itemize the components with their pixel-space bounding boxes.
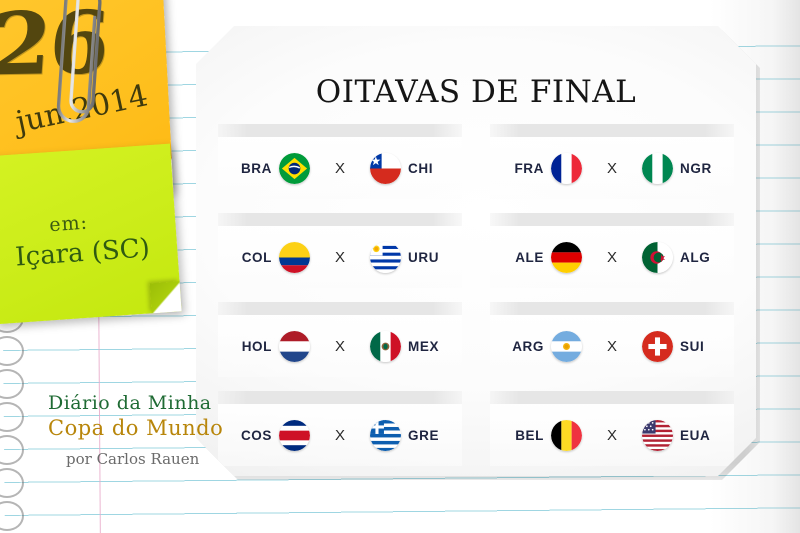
matches-column-right: FRA X NGR ALE [476, 124, 734, 480]
away-team-code: EUA [680, 428, 714, 443]
chile-flag-icon [370, 153, 401, 184]
belgium-flag-icon [551, 420, 582, 451]
nigeria-flag-icon [642, 153, 673, 184]
greece-flag-icon [370, 420, 401, 451]
switzerland-flag-icon [642, 331, 673, 362]
vs-separator: X [589, 249, 635, 266]
match-block[interactable]: HOL X MEX [218, 302, 462, 377]
away-team-code: GRE [408, 428, 442, 443]
vs-separator: X [317, 338, 363, 355]
vs-separator: X [589, 160, 635, 177]
match-band [218, 302, 462, 315]
home-team-code: FRA [510, 161, 544, 176]
match-row[interactable]: FRA X NGR [490, 137, 734, 199]
away-team-code: MEX [408, 339, 442, 354]
france-flag-icon [551, 153, 582, 184]
home-team-code: ALE [510, 250, 544, 265]
match-row[interactable]: HOL X MEX [218, 315, 462, 377]
vs-separator: X [317, 427, 363, 444]
home-team-code: BEL [510, 428, 544, 443]
away-team-code: SUI [680, 339, 714, 354]
date-day: 26 [0, 0, 111, 95]
match-row[interactable]: ARG X SUI [490, 315, 734, 377]
vs-separator: X [589, 427, 635, 444]
match-band [218, 124, 462, 137]
netherlands-flag-icon [279, 331, 310, 362]
match-block[interactable]: BEL X EUA [490, 391, 734, 466]
away-team-code: ALG [680, 250, 714, 265]
colombia-flag-icon [279, 242, 310, 273]
away-team-code: URU [408, 250, 442, 265]
mexico-flag-icon [370, 331, 401, 362]
match-block[interactable]: BRA X CHI [218, 124, 462, 199]
match-band [490, 302, 734, 315]
germany-flag-icon [551, 242, 582, 273]
brazil-flag-icon [279, 153, 310, 184]
branding-block: Diário da Minha Copa do Mundo por Carlos… [48, 392, 268, 468]
home-team-code: ARG [510, 339, 544, 354]
match-block[interactable]: ARG X SUI [490, 302, 734, 377]
matches-grid: BRA X CHI COL [196, 124, 756, 480]
location-label: em: [49, 212, 89, 237]
home-team-code: BRA [238, 161, 272, 176]
usa-flag-icon [642, 420, 673, 451]
location-city: Içara (SC) [14, 233, 150, 272]
brand-title-line2: Copa do Mundo [48, 416, 268, 440]
bracket-card: OITAVAS DE FINAL BRA X CHI [196, 26, 756, 476]
algeria-flag-icon [642, 242, 673, 273]
home-team-code: COL [238, 250, 272, 265]
home-team-code: HOL [238, 339, 272, 354]
match-band [490, 213, 734, 226]
match-block[interactable]: ALE X ALG [490, 213, 734, 288]
location-sticky-note: em: Içara (SC) [0, 144, 182, 325]
away-team-code: NGR [680, 161, 714, 176]
match-row[interactable]: BRA X CHI [218, 137, 462, 199]
match-band [490, 391, 734, 404]
uruguay-flag-icon [370, 242, 401, 273]
page-title: OITAVAS DE FINAL [196, 74, 756, 110]
away-team-code: CHI [408, 161, 442, 176]
vs-separator: X [317, 249, 363, 266]
match-band [490, 124, 734, 137]
costarica-flag-icon [279, 420, 310, 451]
match-row[interactable]: BEL X EUA [490, 404, 734, 466]
match-band [218, 213, 462, 226]
vs-separator: X [589, 338, 635, 355]
match-block[interactable]: FRA X NGR [490, 124, 734, 199]
match-row[interactable]: ALE X ALG [490, 226, 734, 288]
argentina-flag-icon [551, 331, 582, 362]
brand-title-line1: Diário da Minha [48, 392, 268, 414]
match-block[interactable]: COL X URU [218, 213, 462, 288]
vs-separator: X [317, 160, 363, 177]
brand-author: por Carlos Rauen [66, 450, 268, 468]
match-row[interactable]: COL X URU [218, 226, 462, 288]
